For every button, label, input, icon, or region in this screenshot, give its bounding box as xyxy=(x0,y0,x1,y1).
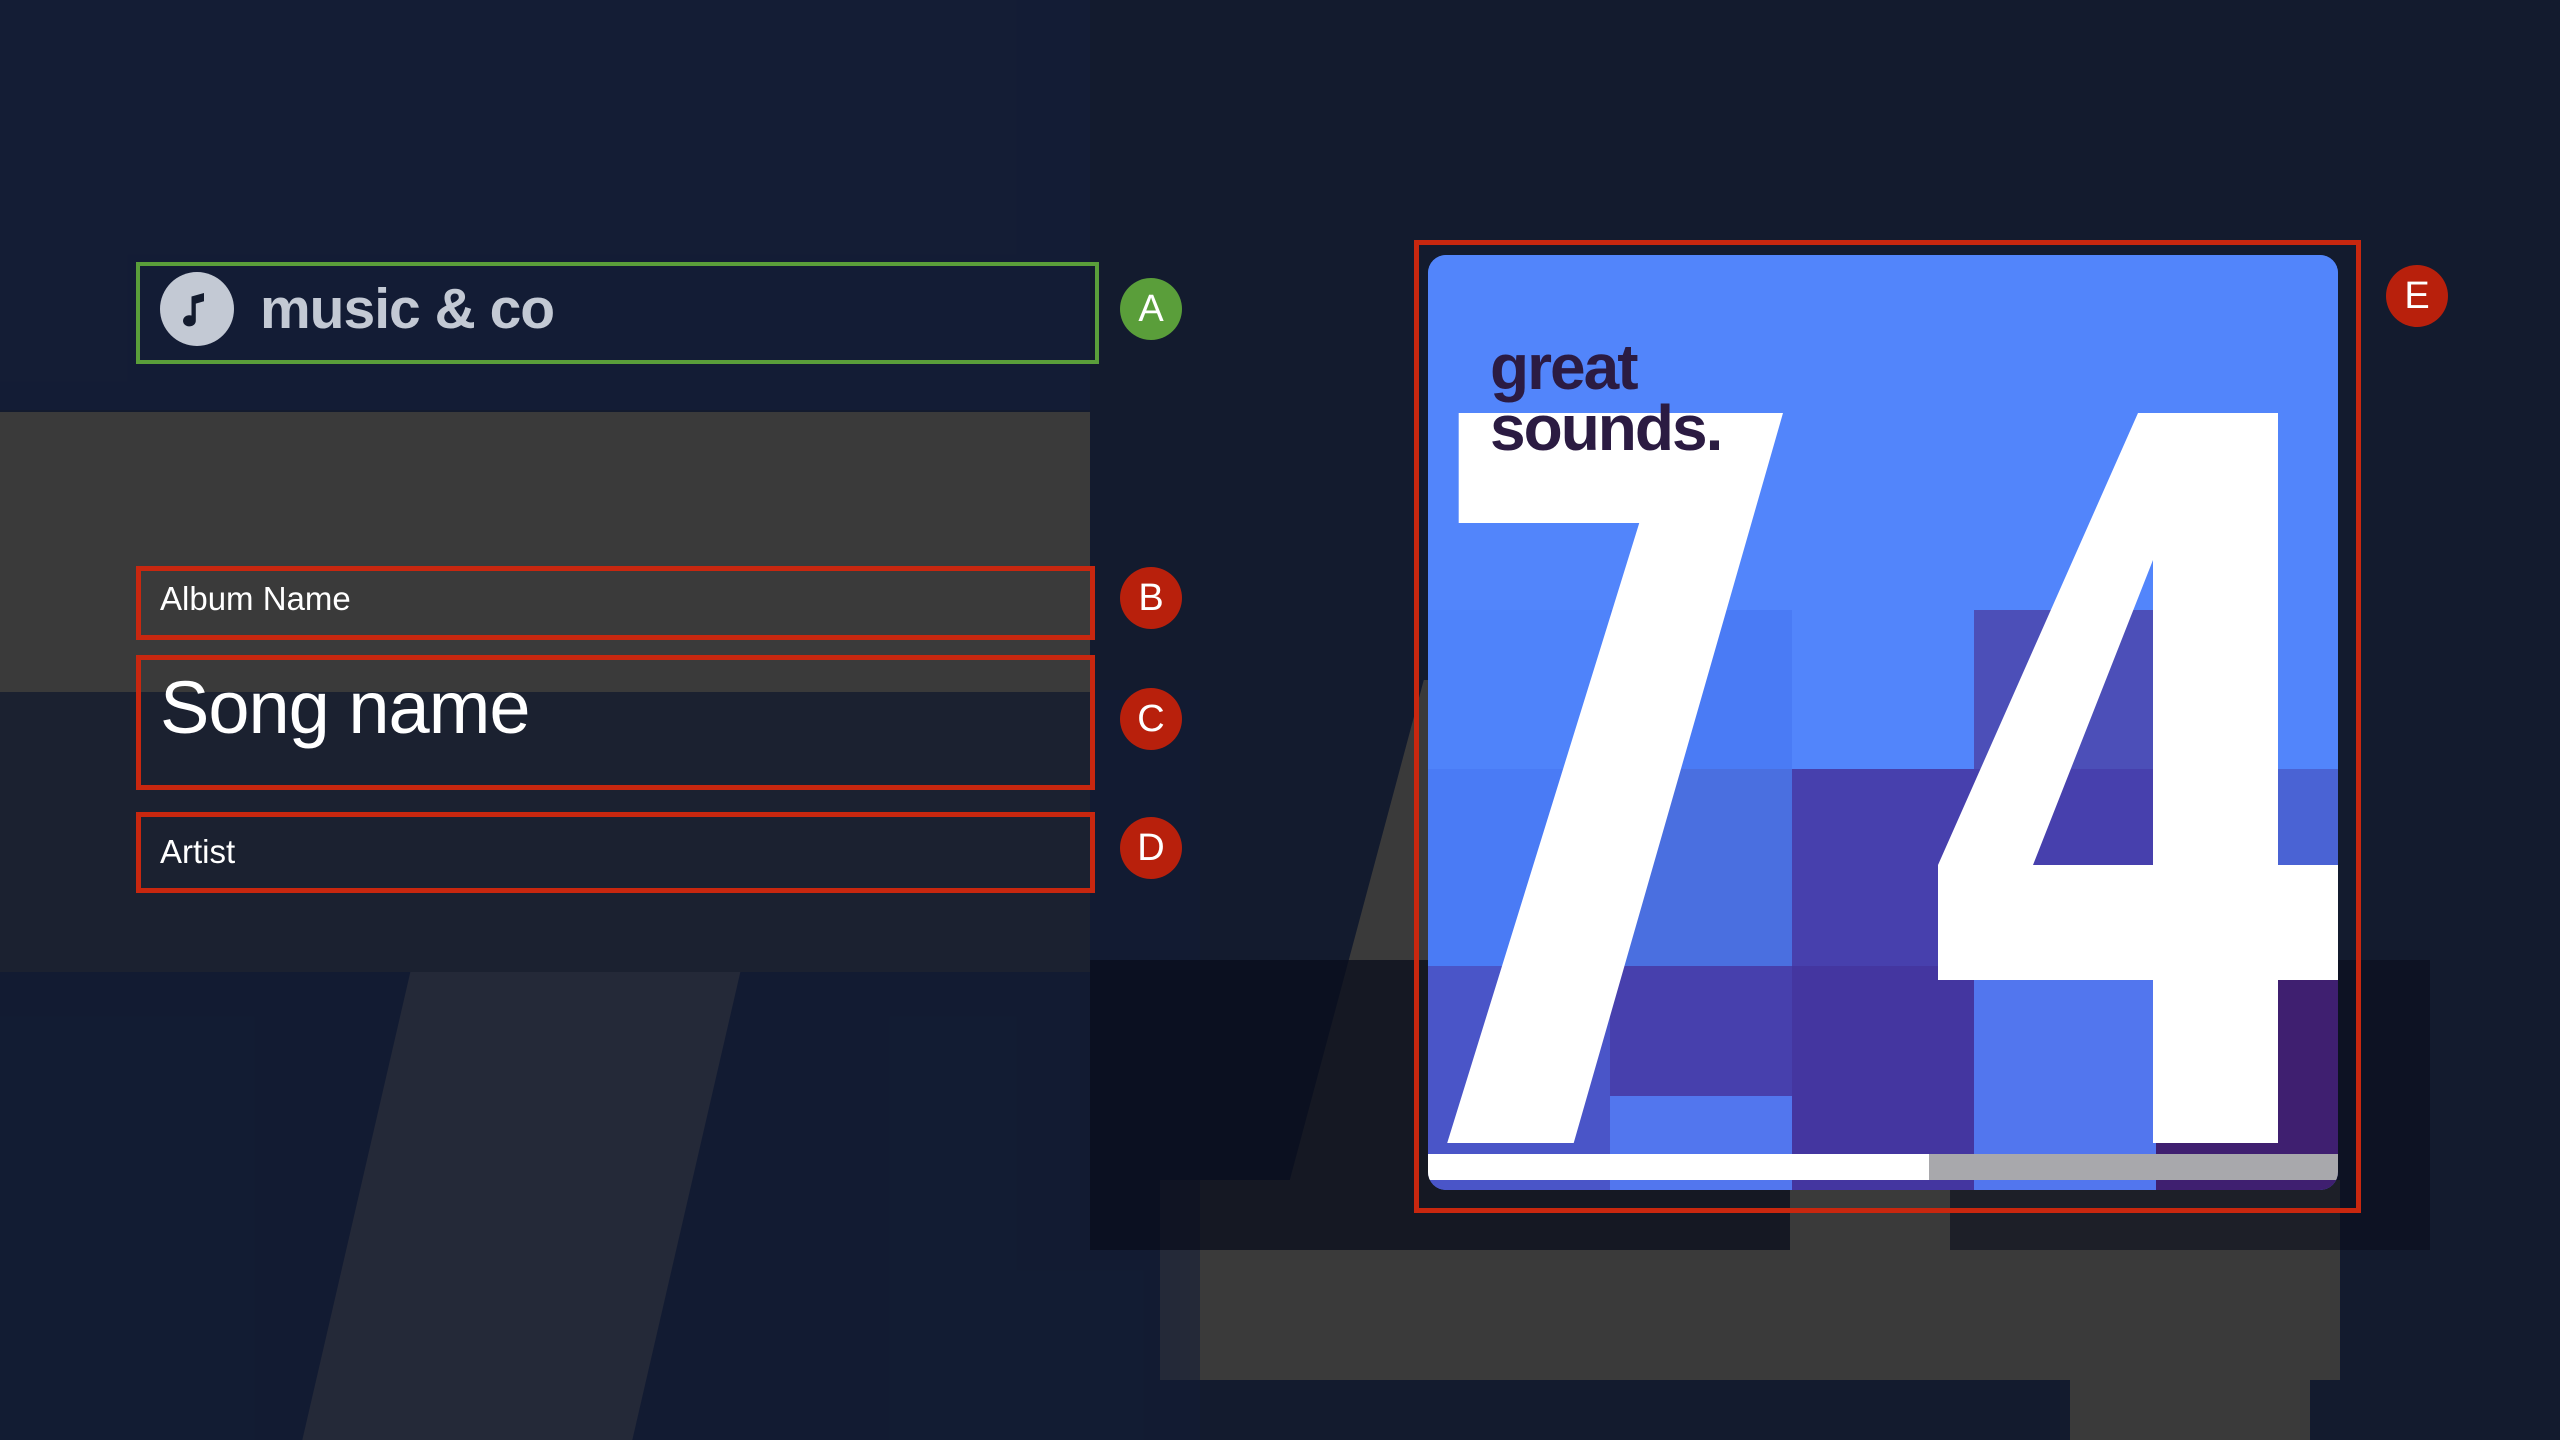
song-name-field[interactable]: Song name xyxy=(160,665,530,750)
annotation-badge-d: D xyxy=(1120,817,1182,879)
background-tint-top xyxy=(0,0,1090,410)
annotation-badge-a: A xyxy=(1120,278,1182,340)
annotation-badge-e: E xyxy=(2386,265,2448,327)
artist-name-field[interactable]: Artist xyxy=(160,833,235,871)
playback-progress-fill xyxy=(1428,1154,1929,1180)
album-art-headline: great sounds. xyxy=(1490,337,1721,460)
annotation-badge-b: B xyxy=(1120,567,1182,629)
album-art-headline-line2: sounds. xyxy=(1490,392,1721,464)
album-art-big-number xyxy=(1428,405,2338,1145)
brand-logo[interactable]: music & co xyxy=(160,272,554,346)
annotation-badge-c: C xyxy=(1120,688,1182,750)
album-art[interactable]: great sounds. xyxy=(1428,255,2338,1190)
playback-progress-bar[interactable] xyxy=(1428,1154,2338,1180)
brand-name-label: music & co xyxy=(260,281,554,338)
music-note-circle-icon xyxy=(160,272,234,346)
album-name-field[interactable]: Album Name xyxy=(160,580,351,618)
